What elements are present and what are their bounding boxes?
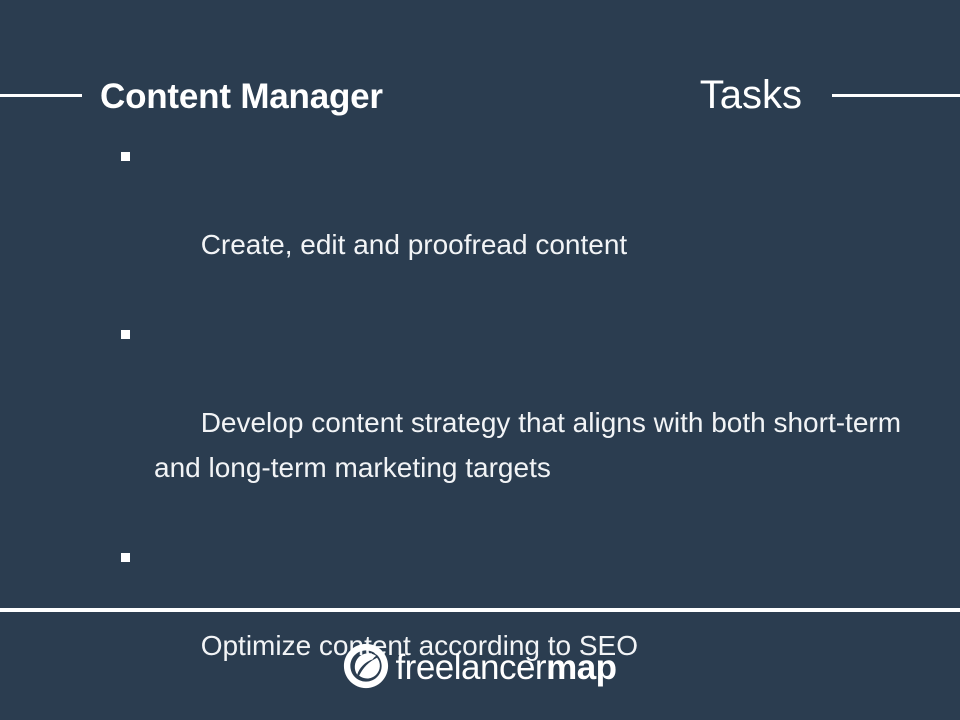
freelancermap-aperture-logo-icon <box>343 643 389 689</box>
slide-footer: freelancermap <box>0 612 960 720</box>
page-title: Content Manager <box>100 77 383 114</box>
square-bullet-icon <box>121 330 130 339</box>
header-kicker: Tasks <box>700 75 802 115</box>
header-rule-right-icon <box>832 94 960 97</box>
square-bullet-icon <box>121 152 130 161</box>
logo-wordmark-light: freelancer <box>395 648 546 687</box>
list-item-label: Develop content strategy that aligns wit… <box>154 407 909 483</box>
list-item: Create, edit and proofread content <box>118 134 908 312</box>
logo-wordmark: freelancermap <box>395 650 616 685</box>
square-bullet-icon <box>121 553 130 562</box>
freelancermap-logo: freelancermap <box>343 643 616 689</box>
slide: Content Manager Tasks Create, edit and p… <box>0 0 960 720</box>
list-item-label: Create, edit and proofread content <box>201 229 628 260</box>
list-item: Develop content strategy that aligns wit… <box>118 312 908 535</box>
slide-header: Content Manager Tasks <box>0 60 960 130</box>
logo-wordmark-bold: map <box>546 648 616 687</box>
header-rule-left-icon <box>0 94 82 97</box>
